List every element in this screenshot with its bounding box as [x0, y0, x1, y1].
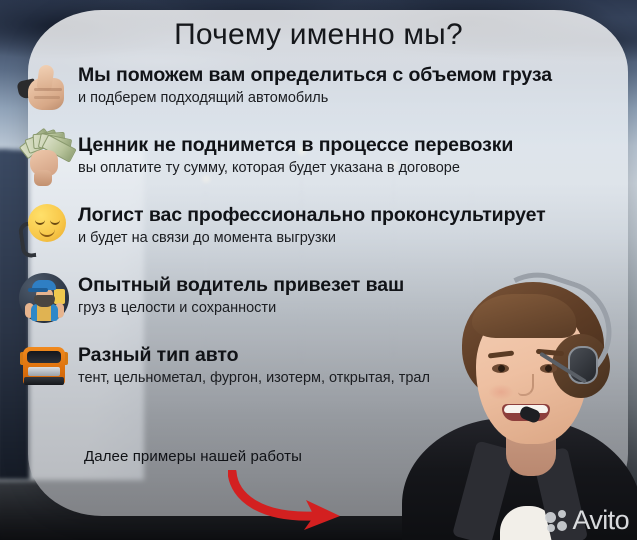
thumbs-up-crease [34, 88, 62, 91]
benefit-row: Мы поможем вам определиться с объемом гр… [0, 62, 637, 116]
benefit-headline: Логист вас профессионально проконсультир… [78, 205, 637, 227]
benefit-subtext: тент, цельнометал, фургон, изотерм, откр… [78, 370, 637, 387]
benefit-text: Разный тип авто тент, цельнометал, фурго… [78, 342, 637, 387]
truck-grille [28, 367, 60, 376]
benefit-row: Разный тип авто тент, цельнометал, фурго… [0, 342, 637, 396]
benefit-headline: Разный тип авто [78, 345, 637, 367]
page-title: Почему именно мы? [0, 18, 637, 52]
benefit-row: Ценник не поднимется в процессе перевозк… [0, 132, 637, 186]
benefit-text: Мы поможем вам определиться с объемом гр… [78, 62, 637, 107]
avito-dot [547, 524, 555, 532]
truck-bumper [24, 377, 64, 385]
relieved-face-phone-icon [20, 204, 68, 252]
benefit-icon-slot [16, 202, 72, 256]
benefit-row: Логист вас профессионально проконсультир… [0, 202, 637, 256]
benefit-text: Логист вас профессионально проконсультир… [78, 202, 637, 247]
benefit-subtext: и будет на связи до момента выгрузки [78, 230, 637, 247]
benefit-icon-slot [16, 132, 72, 186]
avito-watermark: Avito [545, 507, 629, 534]
thumbs-up-icon [18, 64, 70, 114]
benefit-text: Опытный водитель привезет ваш груз в цел… [78, 272, 637, 317]
benefit-icon-slot [16, 272, 72, 326]
avito-dot [558, 510, 566, 518]
benefit-headline: Ценник не поднимется в процессе перевозк… [78, 135, 637, 157]
benefit-headline: Опытный водитель привезет ваш [78, 275, 637, 297]
money-hand-wrist [34, 170, 52, 186]
avito-wordmark: Avito [572, 507, 629, 534]
benefit-subtext: вы оплатите ту сумму, которая будет указ… [78, 160, 637, 177]
benefit-icon-slot [16, 62, 72, 116]
truck-windshield [27, 351, 61, 363]
red-curved-arrow-icon [228, 470, 368, 532]
avito-dots-logo [545, 510, 567, 532]
benefit-subtext: груз в целости и сохранности [78, 300, 637, 317]
benefit-row: Опытный водитель привезет ваш груз в цел… [0, 272, 637, 326]
driver-worker-icon [19, 273, 69, 323]
benefit-text: Ценник не поднимется в процессе перевозк… [78, 132, 637, 177]
promo-banner: Почему именно мы? Мы поможем вам определ… [0, 0, 637, 540]
orange-truck-icon [20, 344, 68, 392]
avito-dot [557, 521, 567, 531]
benefits-list: Мы поможем вам определиться с объемом гр… [0, 62, 637, 403]
avito-dot [545, 512, 556, 523]
driver-fuel-can [54, 289, 65, 304]
thumbs-up-crease [34, 96, 60, 99]
driver-cap-brim [28, 288, 48, 292]
benefit-icon-slot [16, 342, 72, 396]
benefit-subtext: и подберем подходящий автомобиль [78, 90, 637, 107]
cta-text: Далее примеры нашей работы [84, 448, 302, 465]
money-hand-icon [18, 132, 72, 186]
benefit-headline: Мы поможем вам определиться с объемом гр… [78, 65, 637, 87]
